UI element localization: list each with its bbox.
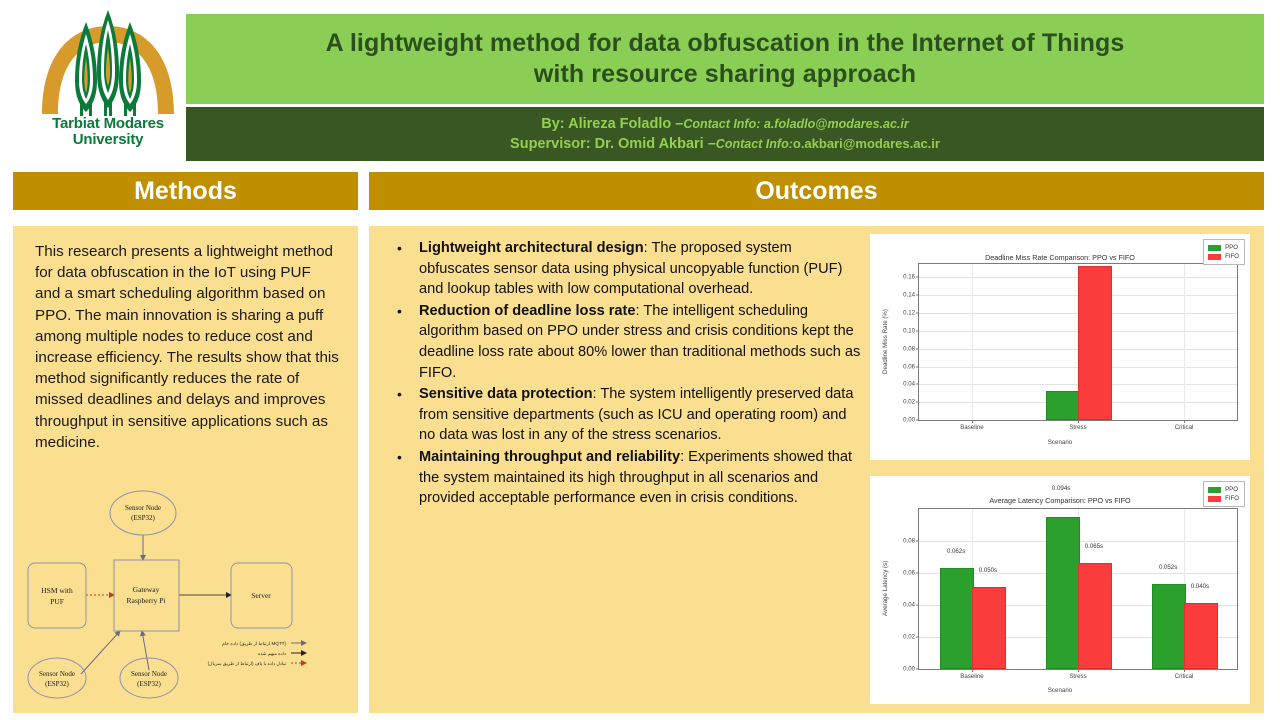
supervisor-name: Supervisor: Dr. Omid Akbari – — [510, 136, 716, 152]
section-header-methods-label: Methods — [134, 178, 237, 205]
outcomes-bullet-list: •Lightweight architectural design: The p… — [383, 238, 863, 510]
y-axis-tick-label: 0.02 — [903, 399, 915, 406]
y-axis-tick-label: 0.00 — [903, 666, 915, 673]
poster-title-bar: A lightweight method for data obfuscatio… — [186, 14, 1264, 104]
bullet-marker-icon: • — [397, 447, 402, 468]
logo-mark-icon — [28, 8, 188, 118]
author-name: By: Alireza Foladlo – — [541, 116, 683, 132]
x-axis-tick-label: Baseline — [960, 673, 983, 680]
logo-zone: Tarbiat Modares University — [0, 0, 185, 168]
chart2-xlabel: Scenario — [870, 687, 1250, 694]
svg-text:(ESP32): (ESP32) — [45, 680, 69, 688]
x-axis-tick-mark — [972, 669, 973, 672]
bar-ppo-stress — [1046, 391, 1080, 420]
diagram-legend-item-2: تبادل داده با پاف (ارتباط از طریق سریال) — [208, 661, 287, 667]
y-axis-tick-label: 0.14 — [903, 292, 915, 299]
y-axis-tick-mark — [916, 277, 919, 278]
chart1-legend-fifo-label: FIFO — [1225, 252, 1239, 261]
y-axis-tick-mark — [916, 366, 919, 367]
chart1-legend: PPO FIFO — [1203, 239, 1245, 265]
page-title-line2: with resource sharing approach — [534, 60, 916, 88]
y-axis-tick-mark — [916, 573, 919, 574]
bar-fifo-stress — [1078, 563, 1112, 669]
bar-ppo-baseline — [940, 568, 974, 669]
x-axis-tick-label: Critical — [1175, 424, 1194, 431]
chart2-legend-fifo-label: FIFO — [1225, 494, 1239, 503]
average-latency-chart: 0.094s Average Latency Comparison: PPO v… — [870, 476, 1250, 704]
diagram-legend: داده خام (ارتباط از طریق MQTT) داده مبهم… — [208, 641, 306, 667]
y-axis-tick-label: 0.16 — [903, 274, 915, 281]
y-axis-tick-mark — [916, 348, 919, 349]
gridline-vertical — [972, 264, 973, 420]
supervisor-line: Supervisor: Dr. Omid Akbari –Contact Inf… — [510, 134, 940, 154]
legend-swatch-fifo-icon — [1208, 254, 1221, 260]
chart1-xlabel: Scenario — [870, 439, 1250, 446]
x-axis-tick-label: Critical — [1175, 673, 1194, 680]
logo-text-line2: University — [28, 132, 188, 148]
methods-panel: This research presents a lightweight met… — [13, 226, 358, 713]
section-header-outcomes-label: Outcomes — [755, 178, 877, 205]
y-axis-tick-label: 0.08 — [903, 538, 915, 545]
author-byline-bar: By: Alireza Foladlo –Contact Info: a.fol… — [186, 107, 1264, 161]
page-title: A lightweight method for data obfuscatio… — [326, 28, 1125, 90]
outcome-bullet-2-title: Sensitive data protection — [419, 386, 593, 402]
y-axis-tick-mark — [916, 295, 919, 296]
legend-swatch-ppo-icon — [1208, 245, 1221, 251]
chart2-legend-ppo: PPO — [1208, 485, 1239, 494]
bullet-marker-icon: • — [397, 384, 402, 405]
average-latency-chart-card: 0.094s Average Latency Comparison: PPO v… — [870, 476, 1250, 704]
outcome-bullet-0: •Lightweight architectural design: The p… — [383, 238, 863, 300]
bullet-marker-icon: • — [397, 301, 402, 322]
bar-value-label: 0.065s — [1085, 543, 1103, 550]
y-axis-tick-mark — [916, 541, 919, 542]
chart1-legend-fifo: FIFO — [1208, 252, 1239, 261]
x-axis-tick-mark — [1184, 420, 1185, 423]
architecture-svg: Sensor Node (ESP32) HSM with PUF Gateway… — [21, 488, 351, 703]
chart2-ylabel: Average Latency (s) — [882, 561, 889, 616]
chart1-legend-ppo: PPO — [1208, 243, 1239, 252]
outcome-bullet-0-title: Lightweight architectural design — [419, 240, 644, 256]
chart2-legend-ppo-label: PPO — [1225, 485, 1238, 494]
chart2-title: Average Latency Comparison: PPO vs FIFO — [870, 496, 1250, 505]
chart1-title: Deadline Miss Rate Comparison: PPO vs FI… — [870, 253, 1250, 262]
gridline-vertical — [1184, 264, 1185, 420]
diagram-legend-item-1: داده مبهم شده — [258, 651, 286, 657]
bar-ppo-stress — [1046, 517, 1080, 669]
chart2-overflow-label: 0.094s — [1052, 485, 1071, 492]
x-axis-tick-label: Stress — [1069, 673, 1086, 680]
svg-text:Raspberry Pi: Raspberry Pi — [127, 596, 166, 605]
svg-text:Sensor Node: Sensor Node — [39, 670, 75, 678]
y-axis-tick-label: 0.02 — [903, 634, 915, 641]
bar-value-label: 0.052s — [1159, 564, 1177, 571]
svg-text:PUF: PUF — [50, 597, 64, 606]
chart1-legend-ppo-label: PPO — [1225, 243, 1238, 252]
bar-value-label: 0.062s — [947, 548, 965, 555]
y-axis-tick-mark — [916, 384, 919, 385]
x-axis-tick-mark — [1078, 420, 1079, 423]
outcome-bullet-2: •Sensitive data protection: The system i… — [383, 384, 863, 446]
svg-text:(ESP32): (ESP32) — [131, 514, 155, 522]
chart1-ylabel: Deadline Miss Rate (%) — [882, 309, 889, 374]
diagram-legend-item-0: داده خام (ارتباط از طریق MQTT) — [222, 641, 286, 647]
bullet-marker-icon: • — [397, 238, 402, 259]
supervisor-contact-label: Contact Info: — [716, 137, 793, 151]
y-axis-tick-label: 0.04 — [903, 602, 915, 609]
bar-value-label: 0.050s — [979, 567, 997, 574]
y-axis-tick-mark — [916, 605, 919, 606]
y-axis-tick-label: 0.06 — [903, 570, 915, 577]
diagram-node-hsm — [28, 563, 86, 628]
svg-text:Server: Server — [251, 591, 271, 600]
y-axis-tick-mark — [916, 330, 919, 331]
x-axis-tick-mark — [1184, 669, 1185, 672]
logo-text: Tarbiat Modares University — [28, 116, 188, 148]
y-axis-tick-label: 0.08 — [903, 345, 915, 352]
svg-text:(ESP32): (ESP32) — [137, 680, 161, 688]
x-axis-tick-mark — [972, 420, 973, 423]
chart2-legend-fifo: FIFO — [1208, 494, 1239, 503]
methods-paragraph: This research presents a lightweight met… — [35, 241, 340, 453]
y-axis-tick-mark — [916, 669, 919, 670]
author-line: By: Alireza Foladlo –Contact Info: a.fol… — [541, 114, 909, 134]
y-axis-tick-label: 0.06 — [903, 363, 915, 370]
legend-swatch-ppo-icon — [1208, 487, 1221, 493]
legend-swatch-fifo-icon — [1208, 496, 1221, 502]
bar-fifo-stress — [1078, 266, 1112, 420]
y-axis-tick-mark — [916, 313, 919, 314]
system-architecture-diagram: Sensor Node (ESP32) HSM with PUF Gateway… — [21, 488, 351, 703]
deadline-miss-rate-chart: Deadline Miss Rate Comparison: PPO vs FI… — [870, 234, 1250, 460]
diagram-node-sensor-bottom-left — [28, 658, 86, 698]
x-axis-tick-label: Stress — [1069, 424, 1086, 431]
author-contact: Contact Info: a.foladlo@modares.ac.ir — [683, 117, 908, 131]
bar-value-label: 0.040s — [1191, 583, 1209, 590]
supervisor-contact-mail: o.akbari@modares.ac.ir — [793, 136, 940, 151]
section-header-outcomes: Outcomes — [369, 172, 1264, 210]
y-axis-tick-label: 0.10 — [903, 327, 915, 334]
svg-text:Gateway: Gateway — [133, 585, 160, 594]
poster-root: Tarbiat Modares University A lightweight… — [0, 0, 1280, 720]
deadline-miss-rate-chart-card: Deadline Miss Rate Comparison: PPO vs FI… — [870, 234, 1250, 460]
outcome-bullet-3: •Maintaining throughput and reliability:… — [383, 447, 863, 509]
outcomes-panel: •Lightweight architectural design: The p… — [369, 226, 1264, 713]
chart2-legend: PPO FIFO — [1203, 481, 1245, 507]
diagram-node-sensor-bottom-mid — [120, 658, 178, 698]
x-axis-tick-mark — [1078, 669, 1079, 672]
svg-text:Sensor Node: Sensor Node — [125, 504, 161, 512]
diagram-node-sensor-top — [110, 491, 176, 535]
y-axis-tick-mark — [916, 402, 919, 403]
bar-fifo-critical — [1184, 603, 1218, 669]
bar-fifo-baseline — [972, 587, 1006, 669]
outcome-bullet-1: •Reduction of deadline loss rate: The in… — [383, 301, 863, 383]
outcome-bullet-1-title: Reduction of deadline loss rate — [419, 303, 636, 319]
outcome-bullet-3-title: Maintaining throughput and reliability — [419, 449, 680, 465]
section-header-methods: Methods — [13, 172, 358, 210]
y-axis-tick-mark — [916, 637, 919, 638]
svg-text:HSM with: HSM with — [41, 586, 73, 595]
y-axis-tick-label: 0.12 — [903, 310, 915, 317]
x-axis-tick-label: Baseline — [960, 424, 983, 431]
svg-text:Sensor Node: Sensor Node — [131, 670, 167, 678]
bar-ppo-critical — [1152, 584, 1186, 669]
page-title-line1: A lightweight method for data obfuscatio… — [326, 29, 1125, 57]
chart2-plot-area: 0.000.020.040.060.08BaselineStressCritic… — [918, 508, 1238, 670]
chart1-plot-area: 0.000.020.040.060.080.100.120.140.16Base… — [918, 263, 1238, 421]
y-axis-tick-label: 0.00 — [903, 417, 915, 424]
y-axis-tick-label: 0.04 — [903, 381, 915, 388]
university-logo: Tarbiat Modares University — [28, 8, 188, 166]
y-axis-tick-mark — [916, 420, 919, 421]
logo-text-line1: Tarbiat Modares — [28, 116, 188, 132]
